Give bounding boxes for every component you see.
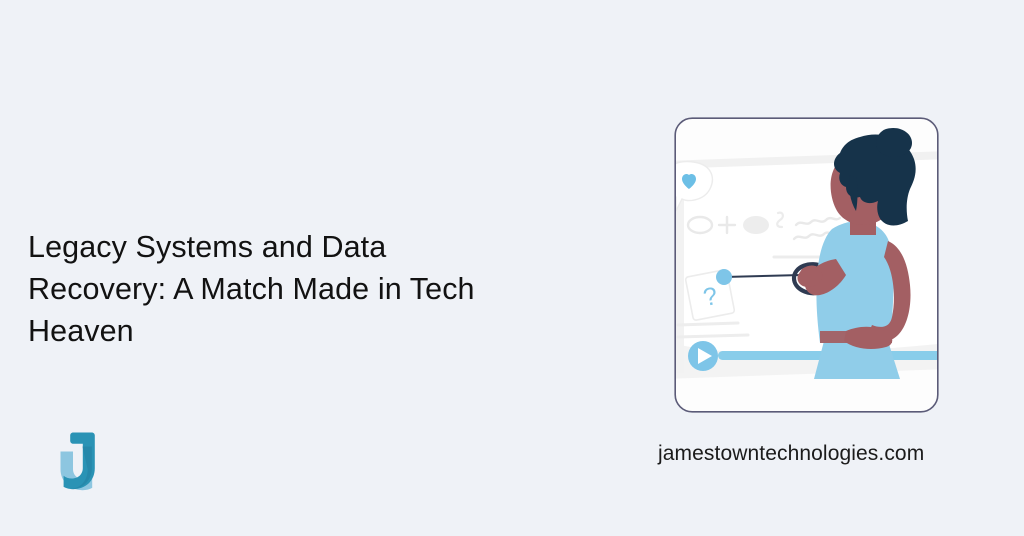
logo-j-icon	[46, 424, 118, 496]
connector-dot	[716, 269, 732, 285]
poster-canvas: Legacy Systems and Data Recovery: A Matc…	[0, 0, 1024, 536]
play-button[interactable]	[688, 341, 718, 371]
filled-ellipse-doodle	[743, 216, 769, 234]
waistband	[820, 331, 892, 343]
site-url: jamestowntechnologies.com	[658, 440, 924, 468]
jamestown-technologies-logo	[46, 424, 118, 496]
video-learning-illustration: ?	[674, 117, 939, 413]
page-title: Legacy Systems and Data Recovery: A Matc…	[28, 226, 548, 352]
